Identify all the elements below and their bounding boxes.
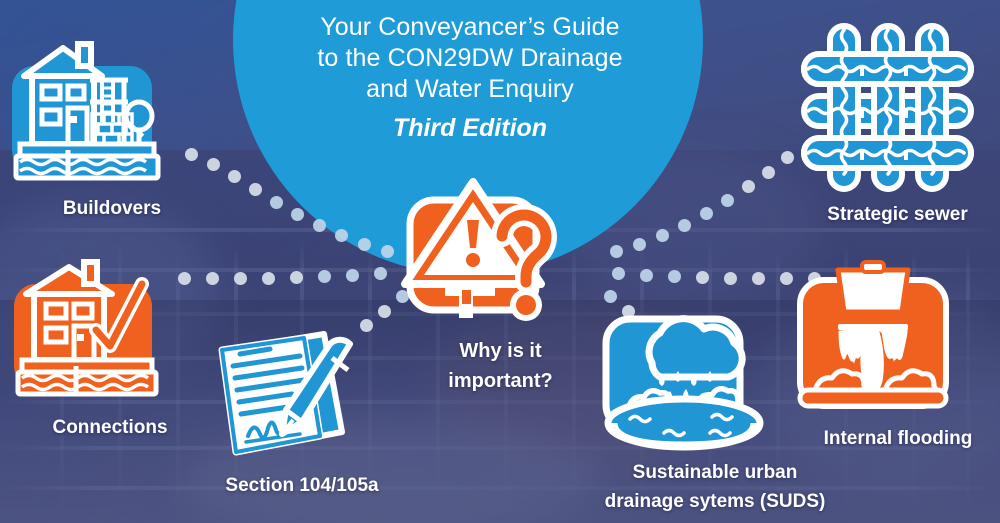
node-section[interactable]: Section 104/105a [192,328,412,497]
banner-title: Your Conveyancer’s Guide to the CON29DW … [255,12,685,145]
section-label: Section 104/105a [192,474,412,497]
node-buildovers[interactable]: Buildovers [12,30,212,220]
sewer-label: Strategic sewer [800,203,995,226]
title-line-2: to the CON29DW Drainage [255,43,685,74]
connections-icon-wrap [10,258,210,408]
title-edition: Third Edition [255,111,685,145]
suds-label-line2: drainage sytems (SUDS) [600,490,830,513]
buildovers-icon-wrap [12,30,212,190]
node-suds[interactable]: Sustainable urban drainage sytems (SUDS) [600,305,830,513]
connections-label: Connections [10,416,210,439]
sewer-pipe-grid-icon [800,20,975,195]
node-sewer[interactable]: Strategic sewer [800,20,995,226]
section-icon-wrap [192,328,412,468]
flooding-icon-wrap [798,268,998,418]
suds-icon-wrap [600,305,830,455]
sewer-icon-wrap [800,20,995,195]
overflowing-container-icon [798,268,948,418]
center-label-line2: important? [398,369,603,393]
buildovers-label: Buildovers [12,197,212,220]
title-line-3: and Water Enquiry [255,74,685,105]
suds-label-line1: Sustainable urban [600,461,830,484]
node-flooding[interactable]: Internal flooding [798,268,998,450]
node-center-why-important[interactable]: Why is it important? [398,178,603,393]
infographic-stage: Your Conveyancer’s Guide to the CON29DW … [0,0,1000,523]
rain-cloud-pond-icon [600,305,770,455]
warning-question-icon [398,178,573,333]
document-pen-signature-icon [192,328,372,468]
center-label-line1: Why is it [398,339,603,363]
flooding-label: Internal flooding [798,427,998,450]
title-line-1: Your Conveyancer’s Guide [255,12,685,43]
node-connections[interactable]: Connections [10,258,210,439]
house-scaffolding-water-icon [12,30,172,190]
center-icon-wrap [398,178,603,333]
house-checkmark-water-icon [10,258,170,408]
